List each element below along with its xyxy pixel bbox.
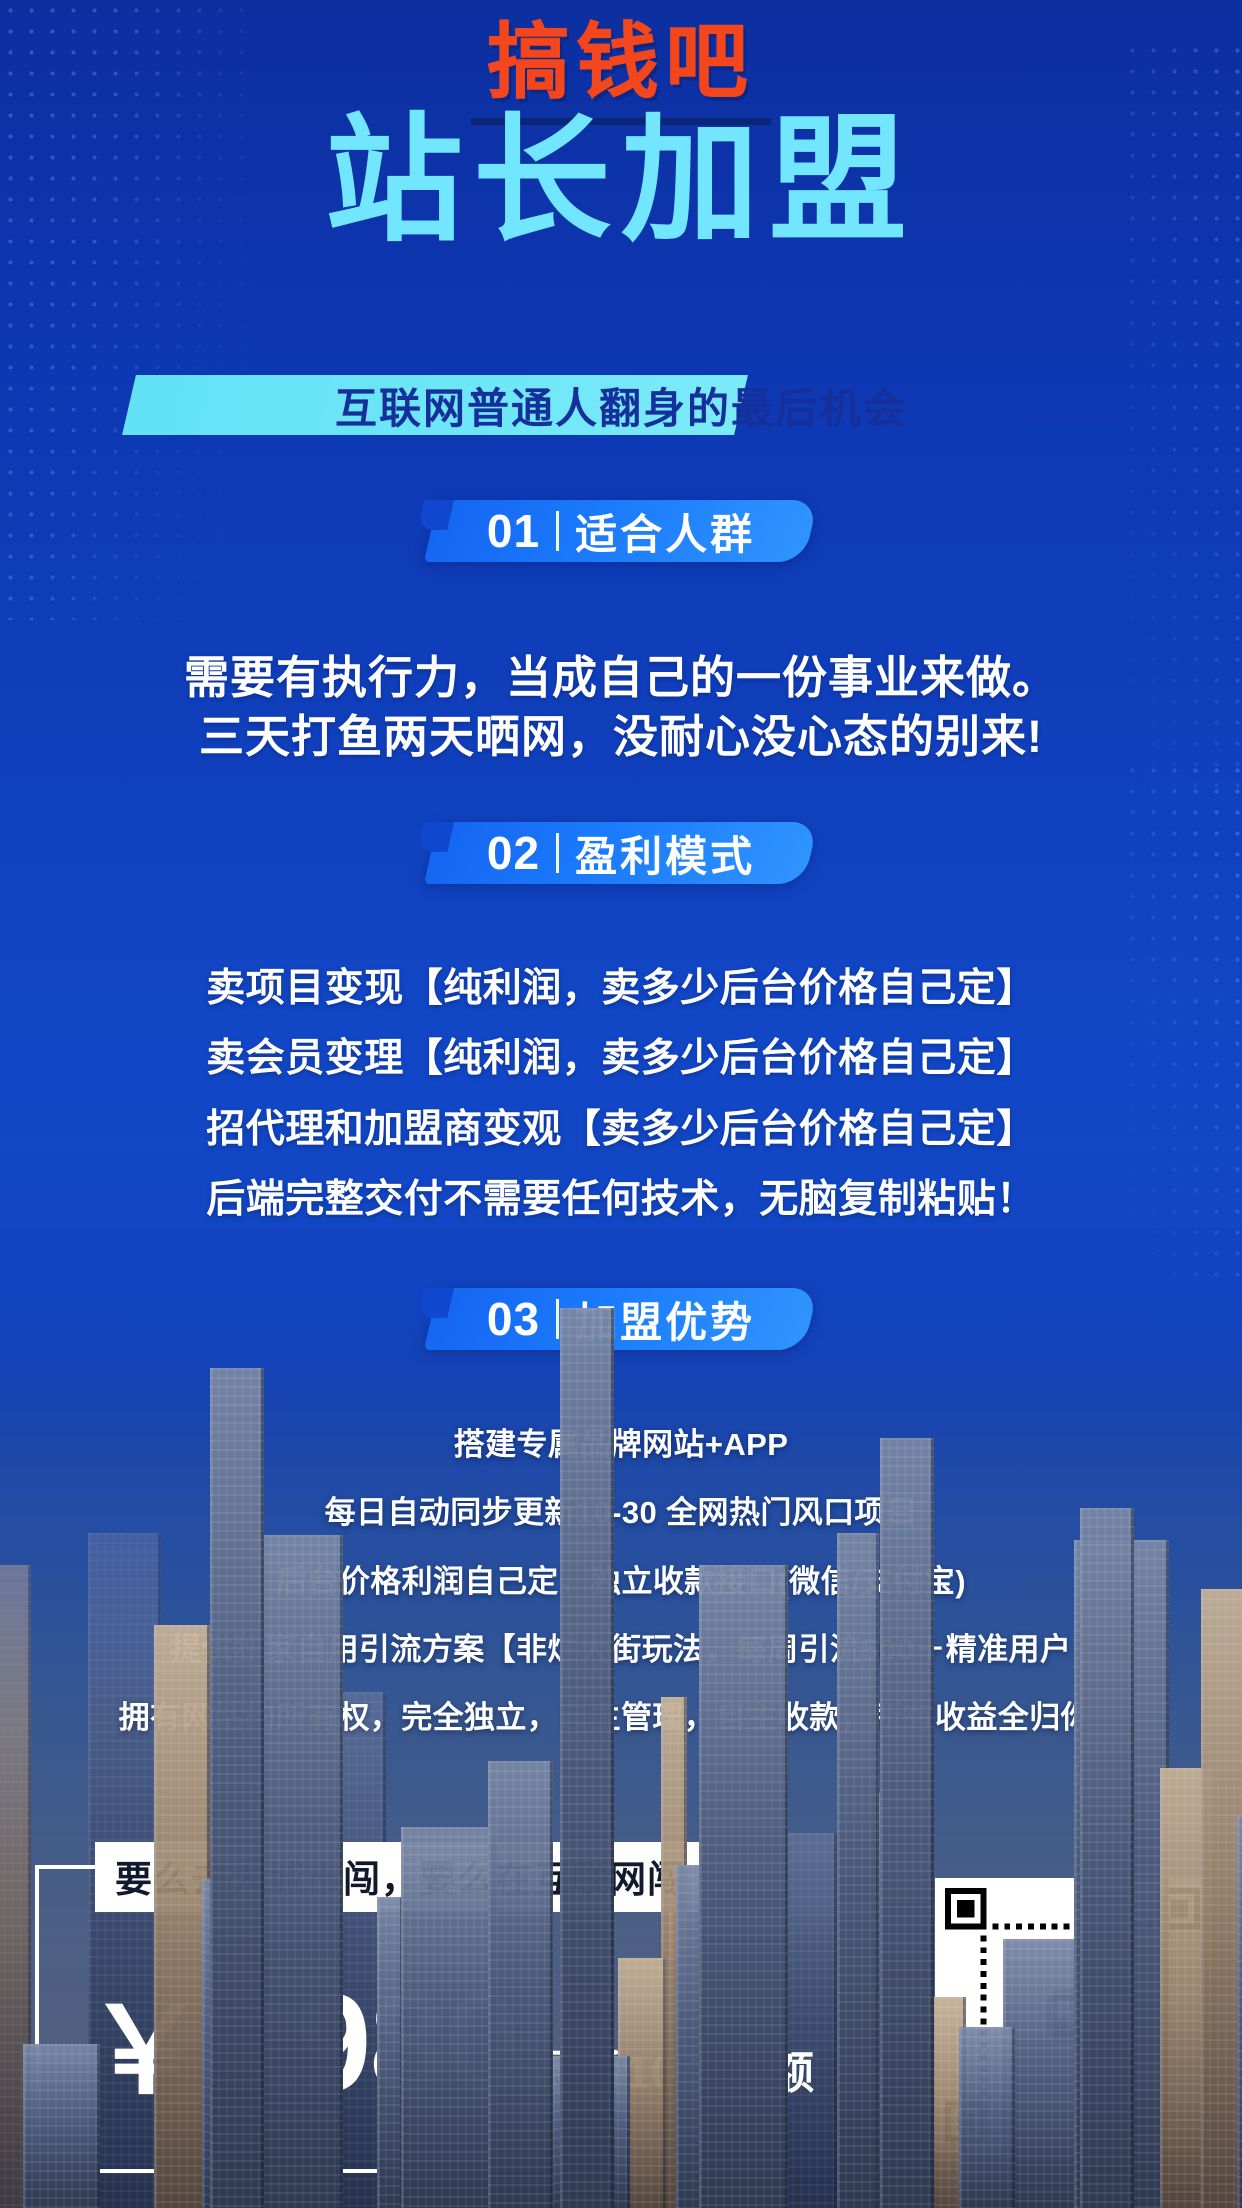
tower (880, 1438, 934, 2208)
poster-root: 搞钱吧 站长加盟 互联网普通人翻身的最后机会 01 适合人群 需要有执行力，当成… (0, 0, 1242, 2208)
section-divider-03 (556, 1299, 559, 1339)
body-line: 后端完整交付不需要任何技术，无脑复制粘贴！ (0, 1176, 1242, 1224)
section-header-01: 01 适合人群 (0, 500, 1242, 564)
tower (210, 1368, 264, 2208)
building (254, 1535, 343, 2208)
building (488, 1761, 553, 2208)
section-body-02: 卖项目变现【纯利润，卖多少后台价格自己定】 卖会员变理【纯利润，卖多少后台价格自… (0, 965, 1242, 1224)
building (959, 2027, 1015, 2208)
section-body-01: 需要有执行力，当成自己的一份事业来做。 三天打鱼两天晒网，没耐心没心态的别来! (0, 648, 1242, 767)
building (401, 1827, 498, 2208)
body-line: 后台价格利润自己定，独立收款接口(微信/支付宝) (0, 1562, 1242, 1602)
building (1201, 1589, 1242, 2208)
section-title-02: 盈利模式 (559, 823, 755, 884)
section-header-03: 03 加盟优势 (0, 1288, 1242, 1352)
section-divider-02 (556, 833, 559, 873)
section-title-01: 适合人群 (559, 501, 755, 562)
body-line: 卖项目变现【纯利润，卖多少后台价格自己定】 (0, 965, 1242, 1013)
body-line: 卖会员变理【纯利润，卖多少后台价格自己定】 (0, 1035, 1242, 1083)
section-header-02: 02 盈利模式 (0, 822, 1242, 886)
section-divider-01 (556, 511, 559, 551)
section-pill-content-01: 01 适合人群 (0, 500, 1242, 562)
body-line: 搭建专属品牌网站+APP (0, 1425, 1242, 1465)
building (23, 2044, 100, 2208)
section-number-02: 02 (487, 826, 556, 880)
section-pill-content-03: 03 加盟优势 (0, 1288, 1242, 1350)
building (377, 1897, 403, 2208)
building (699, 1565, 788, 2208)
section-pill-content-02: 02 盈利模式 (0, 822, 1242, 884)
body-line: 三天打鱼两天晒网，没耐心没心态的别来! (0, 707, 1242, 766)
body-line: 招代理和加盟商变观【卖多少后台价格自己定】 (0, 1106, 1242, 1154)
subtitle-text: 互联网普通人翻身的最后机会 (0, 375, 1242, 435)
body-line: 需要有执行力，当成自己的一份事业来做。 (0, 648, 1242, 707)
section-number-03: 03 (487, 1292, 556, 1346)
body-line: 每日自动同步更新10-30 全网热门风口项目 (0, 1493, 1242, 1533)
building (837, 1533, 879, 2208)
building (1237, 1816, 1242, 2208)
page-title: 站长加盟 (0, 112, 1242, 250)
section-number-01: 01 (487, 504, 556, 558)
tower (560, 1308, 614, 2208)
tower (1080, 1508, 1134, 2208)
kicker-text: 搞钱吧 (0, 22, 1242, 104)
